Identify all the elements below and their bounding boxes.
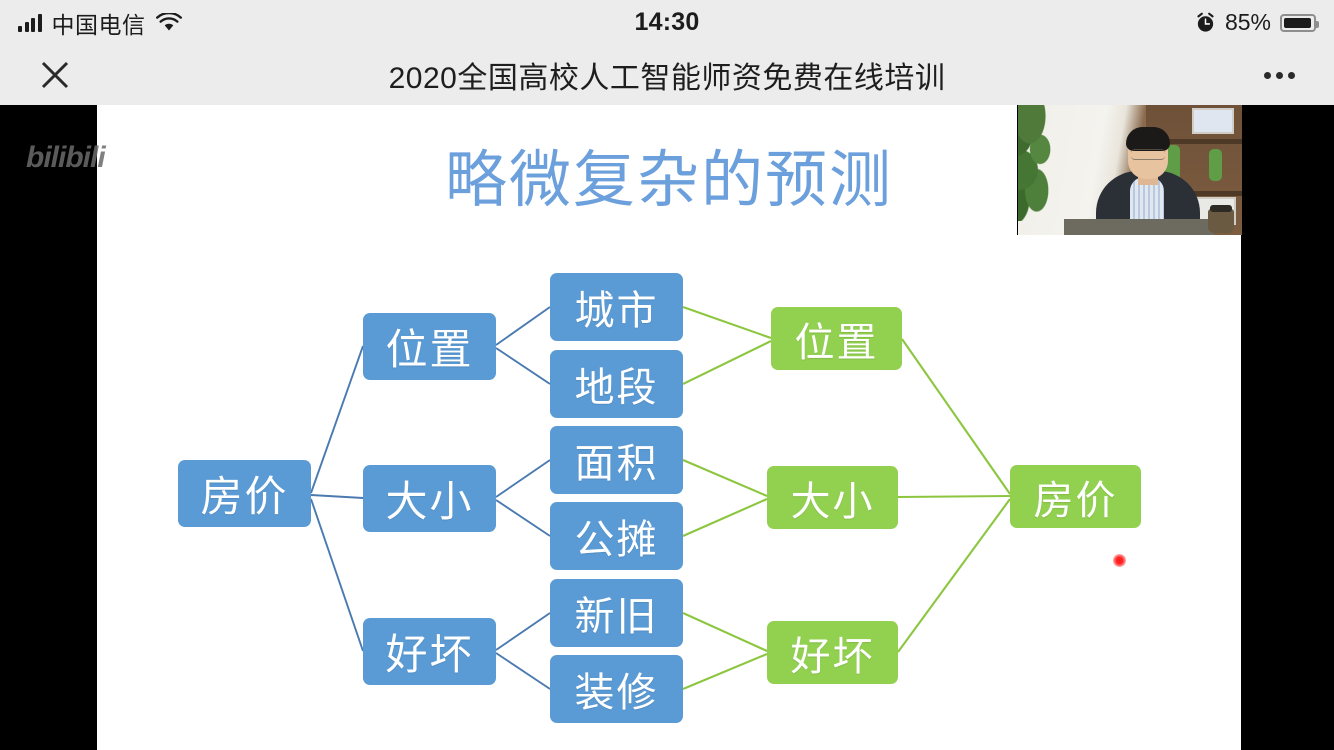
node-size-green: 大小 xyxy=(767,466,898,529)
node-leaf-area: 面积 xyxy=(550,426,683,494)
battery-icon xyxy=(1280,14,1316,32)
more-options-icon[interactable] xyxy=(1258,54,1300,96)
wifi-icon xyxy=(156,13,182,32)
laser-pointer-dot xyxy=(1113,554,1126,567)
navigation-bar: 2020全国高校人工智能师资免费在线培训 xyxy=(0,45,1334,105)
node-size-blue: 大小 xyxy=(363,465,496,532)
cup-decor xyxy=(1208,209,1234,233)
video-stage[interactable]: bilibili 略微复杂的预测 xyxy=(0,105,1334,750)
node-leaf-shared-area: 公摊 xyxy=(550,502,683,570)
status-bar-left: 中国电信 xyxy=(18,6,378,40)
status-bar-right: 85% xyxy=(956,9,1316,36)
node-location-blue: 位置 xyxy=(363,313,496,380)
desk-decor xyxy=(1064,219,1214,235)
close-icon[interactable] xyxy=(34,54,76,96)
status-bar: 中国电信 14:30 85% xyxy=(0,0,1334,45)
alarm-clock-icon xyxy=(1195,12,1216,33)
bilibili-watermark: bilibili xyxy=(26,141,105,175)
node-root-left: 房价 xyxy=(178,460,311,527)
node-leaf-city: 城市 xyxy=(550,273,683,341)
page-title: 2020全国高校人工智能师资免费在线培训 xyxy=(76,53,1258,97)
plant-decor xyxy=(1017,105,1090,221)
presenter-figure xyxy=(1092,125,1202,229)
node-quality-green: 好坏 xyxy=(767,621,898,684)
battery-percent-label: 85% xyxy=(1225,9,1271,36)
node-quality-blue: 好坏 xyxy=(363,618,496,685)
node-leaf-decoration: 装修 xyxy=(550,655,683,723)
node-root-right: 房价 xyxy=(1010,465,1141,528)
presenter-video-overlay[interactable] xyxy=(1017,105,1242,235)
cactus-decor xyxy=(1209,149,1222,181)
node-leaf-age: 新旧 xyxy=(550,579,683,647)
status-bar-clock: 14:30 xyxy=(378,8,956,37)
carrier-label: 中国电信 xyxy=(52,6,146,40)
phone-screen: 中国电信 14:30 85% xyxy=(0,0,1334,750)
signal-bars-icon xyxy=(18,14,42,32)
node-location-green: 位置 xyxy=(771,307,902,370)
node-leaf-district: 地段 xyxy=(550,350,683,418)
